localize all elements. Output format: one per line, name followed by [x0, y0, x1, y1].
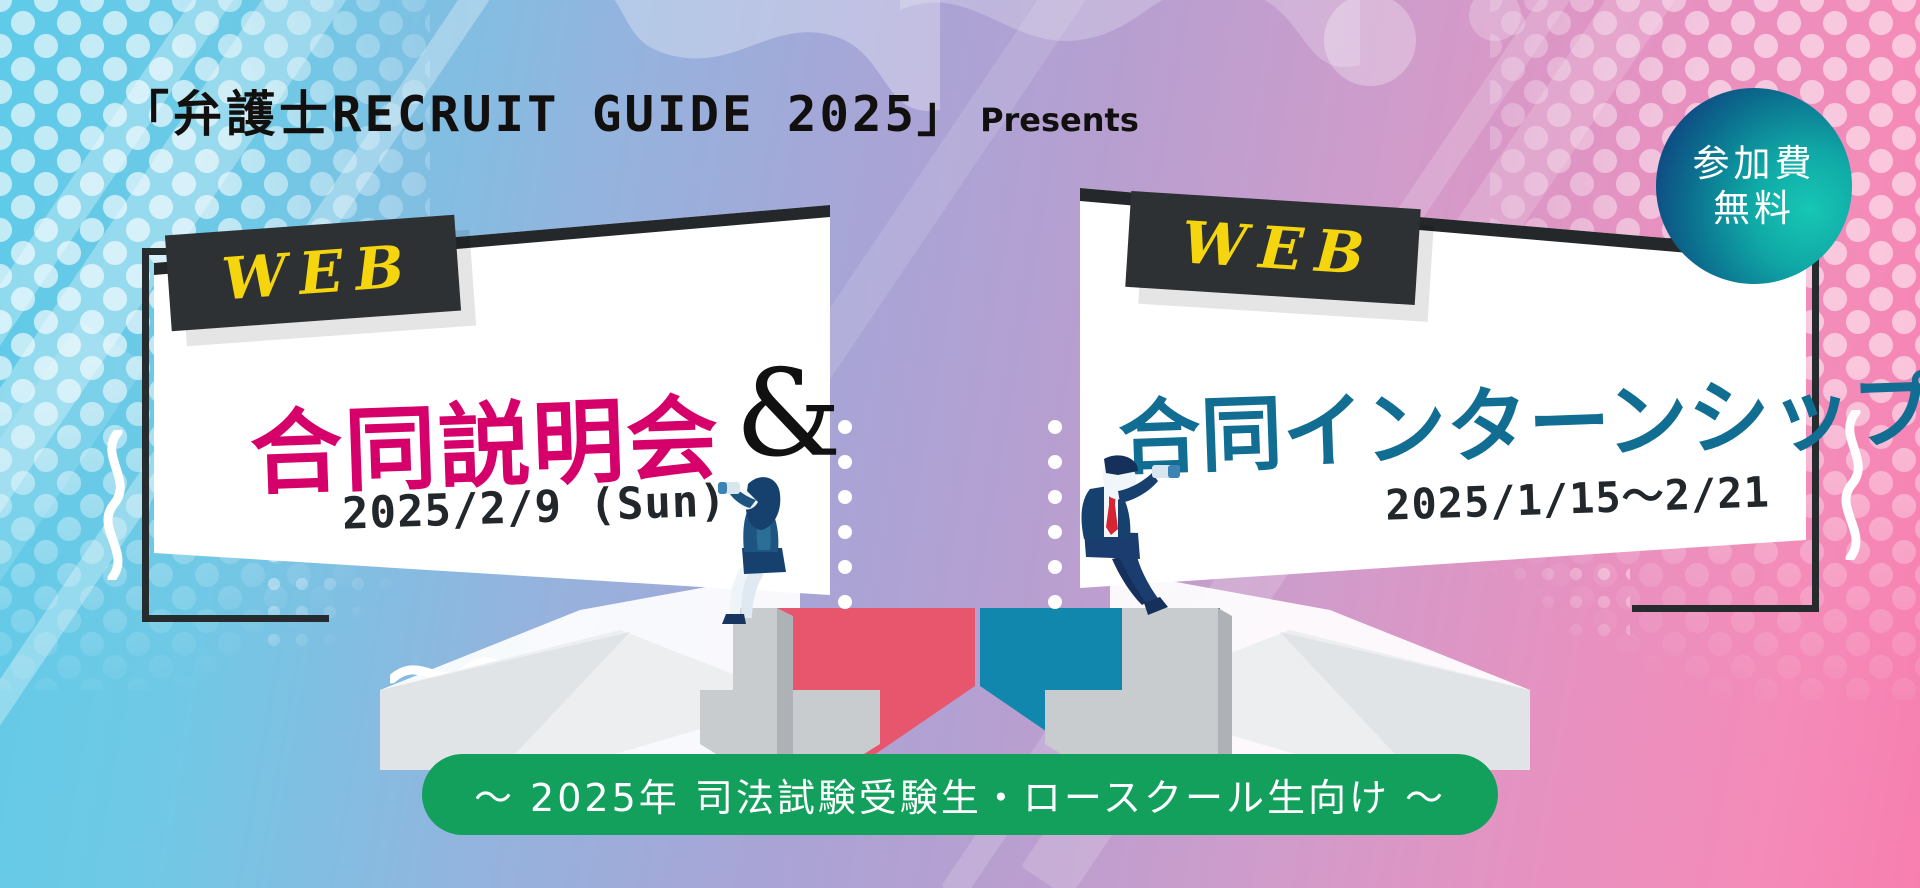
left-web-label: WEB	[208, 232, 419, 315]
illustration-man-with-binoculars	[1056, 455, 1186, 630]
illustration-woman-with-binoculars	[716, 468, 826, 628]
badge-line-1: 参加費	[1693, 141, 1816, 186]
light-streak-6	[0, 320, 146, 888]
target-audience-pill: 〜 2025年 司法試験受験生・ロースクール生向け 〜	[422, 754, 1498, 835]
decorative-blob-right	[1300, 0, 1600, 160]
squiggle-left	[92, 430, 138, 580]
right-web-badge: WEB	[1125, 191, 1420, 305]
right-web-label: WEB	[1168, 208, 1378, 289]
promo-banner: WEB 合同説明会 2025/2/9 (Sun) WEB 合同インターンシップ …	[0, 0, 1920, 888]
title-bracket-open: 「	[120, 86, 173, 143]
badge-line-2: 無料	[1713, 186, 1795, 231]
title-presents: Presents	[980, 101, 1139, 139]
free-admission-badge: 参加費 無料	[1656, 88, 1852, 284]
target-audience-text: 〜 2025年 司法試験受験生・ロースクール生向け 〜	[474, 776, 1446, 820]
title-latin: RECRUIT GUIDE 2025	[332, 86, 917, 143]
title-bracket-close: 」	[917, 86, 970, 143]
title-japanese: 弁護士	[173, 86, 332, 143]
page-title: 「弁護士RECRUIT GUIDE 2025」Presents	[120, 75, 1139, 146]
ampersand-separator: &	[735, 345, 842, 484]
